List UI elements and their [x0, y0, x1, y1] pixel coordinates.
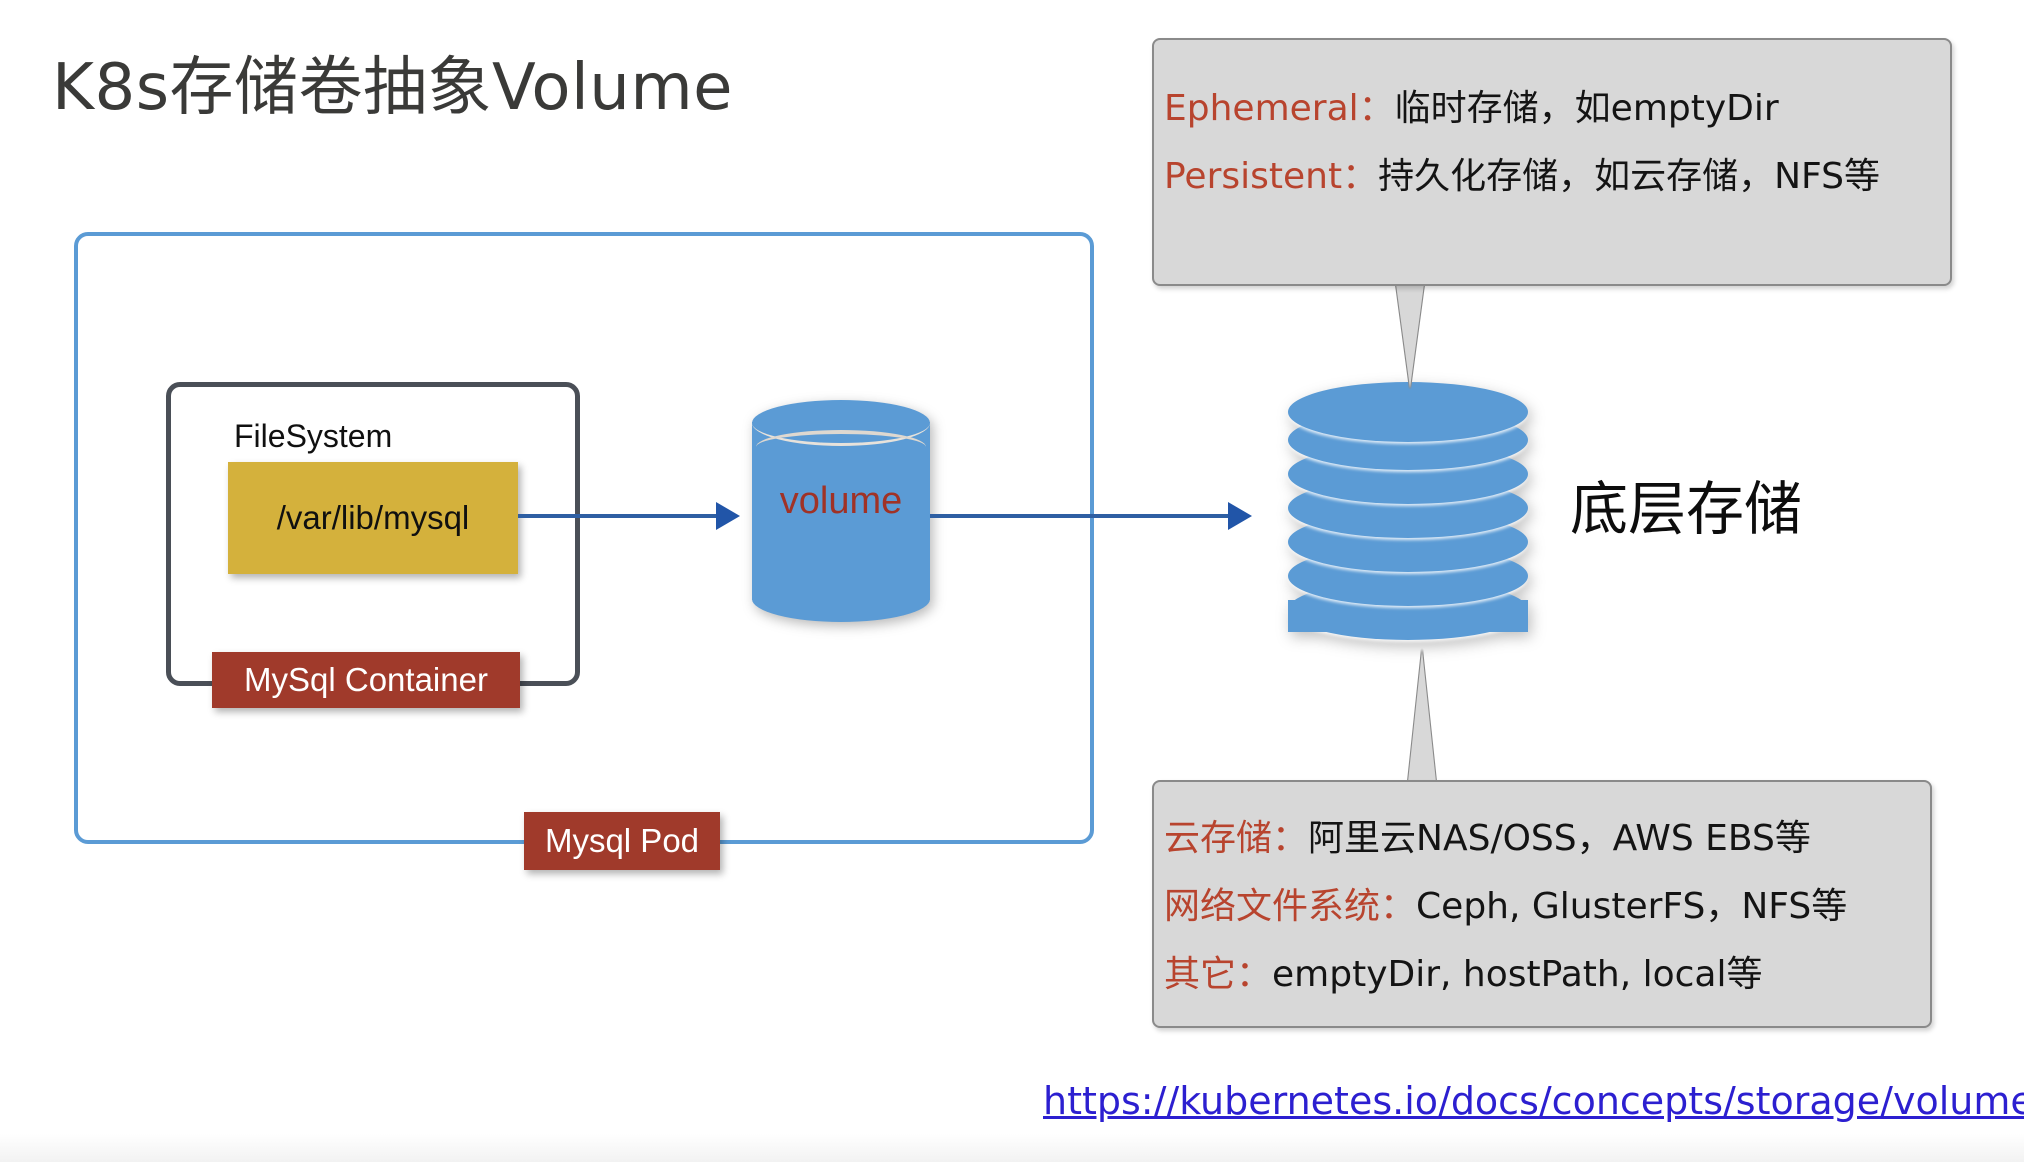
callout-bottom-sep-1: ： — [1380, 886, 1416, 927]
arrow-volume-to-storage-line — [930, 514, 1230, 518]
callout-top-sep-1: ： — [1342, 156, 1378, 197]
arrow-volume-to-storage-head — [1228, 502, 1252, 530]
callout-bottom-key-1: 网络文件系统 — [1164, 886, 1380, 927]
callout-bottom-key-0: 云存储 — [1164, 818, 1272, 859]
backend-storage-icon — [1288, 400, 1528, 640]
callout-bottom-tail — [1408, 650, 1436, 782]
callout-top-line-1: Persistent：持久化存储，如云存储，NFS等 — [1164, 158, 1950, 196]
mount-path-text: /var/lib/mysql — [277, 499, 470, 537]
callout-bottom-key-2: 其它 — [1164, 954, 1236, 995]
callout-top-value-0: 临时存储，如emptyDir — [1395, 88, 1779, 129]
callout-storage-backends: 云存储：阿里云NAS/OSS，AWS EBS等 网络文件系统：Ceph, Glu… — [1152, 780, 1932, 1028]
mysql-container-label: MySql Container — [212, 652, 520, 708]
callout-bottom-line-2: 其它：emptyDir, hostPath, local等 — [1164, 956, 1930, 994]
callout-bottom-line-0: 云存储：阿里云NAS/OSS，AWS EBS等 — [1164, 820, 1930, 858]
callout-bottom-sep-0: ： — [1272, 818, 1308, 859]
documentation-link[interactable]: https://kubernetes.io/docs/concepts/stor… — [1043, 1079, 2024, 1123]
callout-bottom-value-0: 阿里云NAS/OSS，AWS EBS等 — [1308, 818, 1811, 859]
callout-bottom-value-2: emptyDir, hostPath, local等 — [1272, 954, 1762, 995]
callout-top-sep-0: ： — [1359, 88, 1395, 129]
callout-volume-types: Ephemeral：临时存储，如emptyDir Persistent：持久化存… — [1152, 38, 1952, 286]
callout-bottom-line-1: 网络文件系统：Ceph, GlusterFS，NFS等 — [1164, 888, 1930, 926]
callout-top-line-0: Ephemeral：临时存储，如emptyDir — [1164, 90, 1950, 128]
callout-top-key-0: Ephemeral — [1164, 88, 1359, 129]
callout-bottom-sep-2: ： — [1236, 954, 1272, 995]
backend-storage-label: 底层存储 — [1570, 462, 1802, 546]
slide-canvas: K8s存储卷抽象Volume FileSystem /var/lib/mysql… — [0, 0, 2024, 1162]
mysql-pod-label: Mysql Pod — [524, 812, 720, 870]
page-title: K8s存储卷抽象Volume — [52, 52, 733, 126]
callout-bottom-value-1: Ceph, GlusterFS，NFS等 — [1416, 886, 1847, 927]
callout-top-value-1: 持久化存储，如云存储，NFS等 — [1378, 156, 1880, 197]
bottom-band — [0, 1134, 2024, 1162]
callout-top-key-1: Persistent — [1164, 156, 1342, 197]
volume-label: volume — [752, 480, 930, 523]
arrow-mountpath-to-volume-line — [518, 514, 718, 518]
mount-path-box: /var/lib/mysql — [228, 462, 518, 574]
mysql-pod-label-text: Mysql Pod — [545, 822, 699, 860]
callout-top-tail — [1396, 284, 1424, 388]
filesystem-label: FileSystem — [234, 418, 392, 455]
mysql-container-label-text: MySql Container — [244, 661, 488, 699]
arrow-mountpath-to-volume-head — [716, 502, 740, 530]
